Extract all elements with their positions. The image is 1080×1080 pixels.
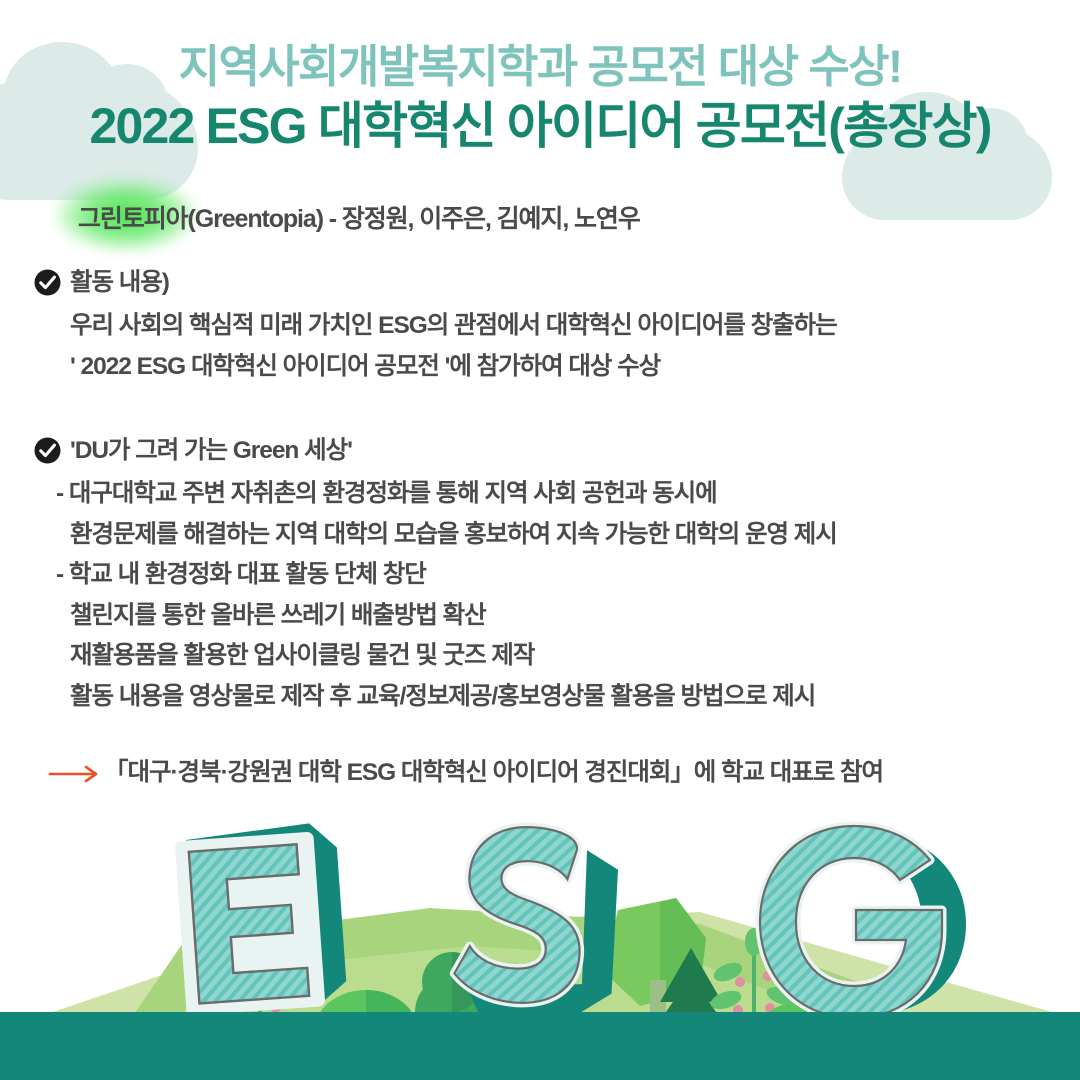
bullet-detail-line: 재활용품을 활용한 업사이클링 물건 및 굿즈 제작 <box>70 644 1080 669</box>
bullet-heading-text: 'DU가 그려 가는 Green 세상' <box>70 439 352 464</box>
esg-illustration <box>0 820 1080 1080</box>
bullet-detail-line: - 학교 내 환경정화 대표 활동 단체 창단 <box>56 563 1080 588</box>
team-name-highlight-wrap: 그린토피아 <box>78 199 188 235</box>
bullet-heading-row: 활동 내용) <box>34 269 1080 296</box>
page-title-main: 2022 ESG 대학혁신 아이디어 공모전(총장상) <box>0 98 1080 155</box>
team-name-line: 그린토피아 (Greentopia) - 장정원, 이주은, 김예지, 노연우 <box>78 199 1080 235</box>
bullet-heading-row: 'DU가 그려 가는 Green 세상' <box>34 437 1080 464</box>
footnote-row: 「대구·경북·강원권 대학 ESG 대학혁신 아이디어 경진대회」에 학교 대표… <box>48 761 1080 786</box>
right-arrow-icon <box>48 763 100 785</box>
bullet-detail-line: 우리 사회의 핵심적 미래 가치인 ESG의 관점에서 대학혁신 아이디어를 창… <box>70 314 1080 339</box>
bullet-detail-line: ' 2022 ESG 대학혁신 아이디어 공모전 '에 참가하여 대상 수상 <box>70 355 1080 380</box>
letter-g-face <box>760 826 942 1018</box>
bullet-block-green-world: 'DU가 그려 가는 Green 세상' - 대구대학교 주변 자취촌의 환경정… <box>34 437 1080 709</box>
letter-e-face <box>178 835 321 1012</box>
bullet-detail-line: - 대구대학교 주변 자취촌의 환경정화를 통해 지역 사회 공헌과 동시에 <box>56 482 1080 507</box>
heading-group: 지역사회개발복지학과 공모전 대상 수상! 2022 ESG 대학혁신 아이디어… <box>0 0 1080 155</box>
body-content: 활동 내용) 우리 사회의 핵심적 미래 가치인 ESG의 관점에서 대학혁신 … <box>0 269 1080 786</box>
esg-letter-g <box>760 826 966 1018</box>
bullet-heading-text: 활동 내용) <box>70 271 169 296</box>
bullet-detail-line: 챌린지를 통한 올바른 쓰레기 배출방법 확산 <box>70 604 1080 629</box>
footnote-text: 「대구·경북·강원권 대학 ESG 대학혁신 아이디어 경진대회」에 학교 대표… <box>104 761 883 786</box>
team-name-korean: 그린토피아 <box>78 205 188 233</box>
team-members-text: (Greentopia) - 장정원, 이주은, 김예지, 노연우 <box>188 205 640 233</box>
bullet-detail-line: 활동 내용을 영상물로 제작 후 교육/정보제공/홍보영상물 활용을 방법으로 … <box>70 685 1080 710</box>
check-circle-icon <box>34 437 61 464</box>
bullet-block-activity: 활동 내용) 우리 사회의 핵심적 미래 가치인 ESG의 관점에서 대학혁신 … <box>34 269 1080 379</box>
page-title-subline: 지역사회개발복지학과 공모전 대상 수상! <box>0 42 1080 92</box>
ground-band <box>0 1012 1080 1080</box>
check-circle-icon <box>34 269 61 296</box>
esg-letter-e <box>177 822 347 1013</box>
poster-canvas: 지역사회개발복지학과 공모전 대상 수상! 2022 ESG 대학혁신 아이디어… <box>0 0 1080 1080</box>
bullet-detail-line: 환경문제를 해결하는 지역 대학의 모습을 홍보하여 지속 가능한 대학의 운영… <box>70 523 1080 548</box>
